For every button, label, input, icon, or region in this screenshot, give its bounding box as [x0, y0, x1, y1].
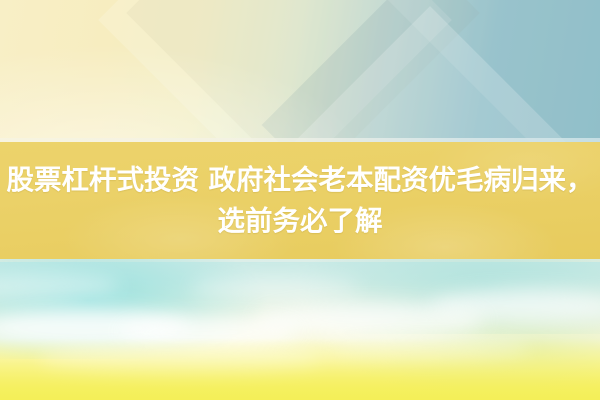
poster-canvas: 股票杠杆式投资 政府社会老本配资优毛病归来， 选前务必了解 [0, 0, 600, 400]
cloud-shape [190, 277, 360, 299]
headline-line-1: 股票杠杆式投资 政府社会老本配资优毛病归来， [6, 160, 593, 201]
top-gradient-panel [0, 0, 600, 143]
headline-band: 股票杠杆式投资 政府社会老本配资优毛病归来， 选前务必了解 [0, 142, 600, 259]
sky-yellow-wash [0, 338, 600, 400]
headline-line-2: 选前务必了解 [218, 201, 383, 242]
sky-gradient-panel [0, 259, 600, 400]
headline-text-block: 股票杠杆式投资 政府社会老本配资优毛病归来， 选前务必了解 [0, 142, 600, 259]
decorative-light-bloom [0, 40, 380, 143]
